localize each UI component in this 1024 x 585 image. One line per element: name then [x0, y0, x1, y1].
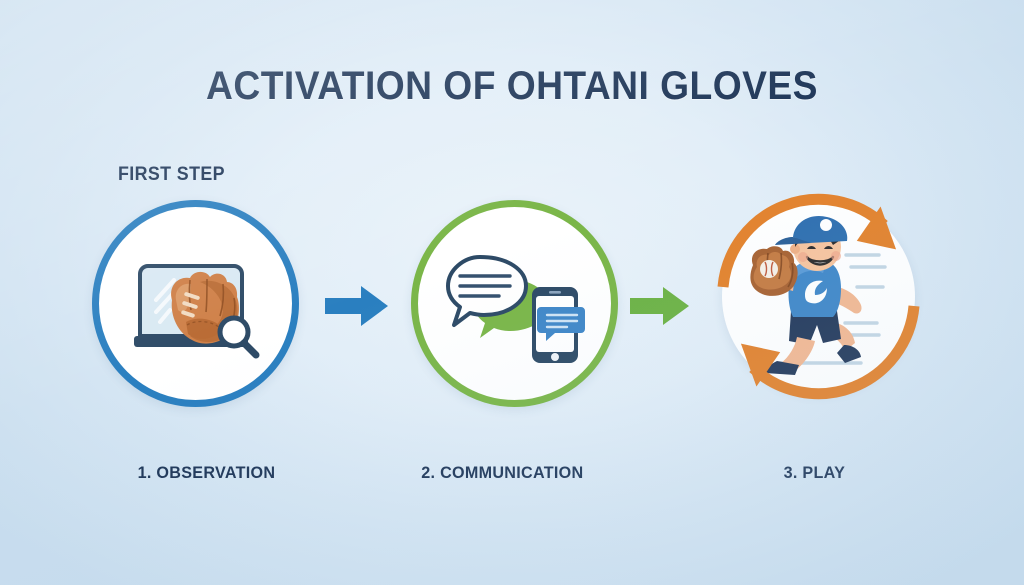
boy-running-with-glove-icon: [733, 211, 905, 383]
chat-bubbles-smartphone-icon: [444, 245, 586, 363]
arrow-step2-to-step3: [630, 286, 690, 326]
step-circle-communication[interactable]: [411, 200, 618, 407]
infographic-canvas: ACTIVATION OF OHTANI GLOVES FIRST STEP: [0, 0, 1024, 585]
step-circle-observation[interactable]: [92, 200, 299, 407]
step-circle-play[interactable]: [722, 200, 915, 393]
glove-display-case-magnifier-icon: [126, 244, 266, 364]
caption-step-2: 2. COMMUNICATION: [421, 463, 583, 483]
caption-step-3: 3. PLAY: [784, 463, 846, 483]
page-title: ACTIVATION OF OHTANI GLOVES: [36, 64, 988, 109]
caption-step-1: 1. OBSERVATION: [138, 463, 276, 483]
first-step-label: FIRST STEP: [118, 164, 225, 186]
arrow-step1-to-step2: [325, 285, 389, 327]
